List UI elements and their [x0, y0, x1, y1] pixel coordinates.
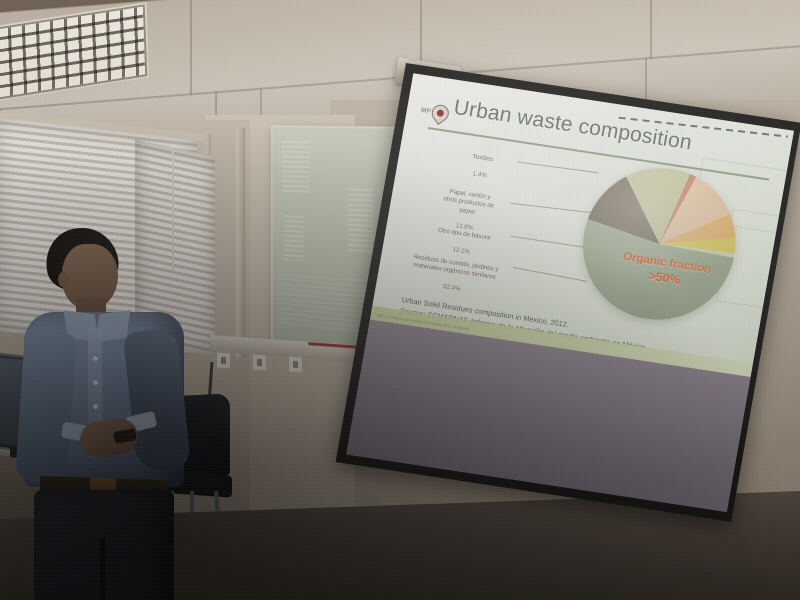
pie-disc: [571, 158, 748, 330]
presenter-person: [18, 228, 193, 600]
trouser-seam: [100, 538, 105, 600]
logo-droplet-icon: [428, 101, 452, 125]
projector-screen: MP Urban waste composition Textiles 1.4%: [336, 63, 800, 522]
wall-outlet[interactable]: [252, 353, 267, 371]
wall-column: [236, 128, 245, 358]
ear: [58, 272, 68, 287]
shirt-button: [93, 404, 98, 409]
photograph-conference-room: MP Urban waste composition Textiles 1.4%: [0, 0, 800, 600]
shirt-button: [93, 356, 98, 361]
pie-chart: Organic fraction >50%: [571, 158, 748, 330]
label-textiles: Textiles 1.4%: [444, 141, 519, 184]
shirt-button: [93, 380, 98, 385]
wall-outlet[interactable]: [216, 351, 231, 369]
arm-left: [15, 330, 77, 483]
wall-outlet[interactable]: [288, 355, 303, 373]
logo-mark-text: MP: [420, 107, 431, 115]
leader-line-otro: [510, 236, 591, 249]
leader-line-papel: [510, 203, 598, 214]
mp-logo-icon: MP: [419, 101, 450, 127]
screen-surface: MP Urban waste composition Textiles 1.4%: [346, 73, 794, 512]
leader-line-textiles: [517, 162, 598, 174]
